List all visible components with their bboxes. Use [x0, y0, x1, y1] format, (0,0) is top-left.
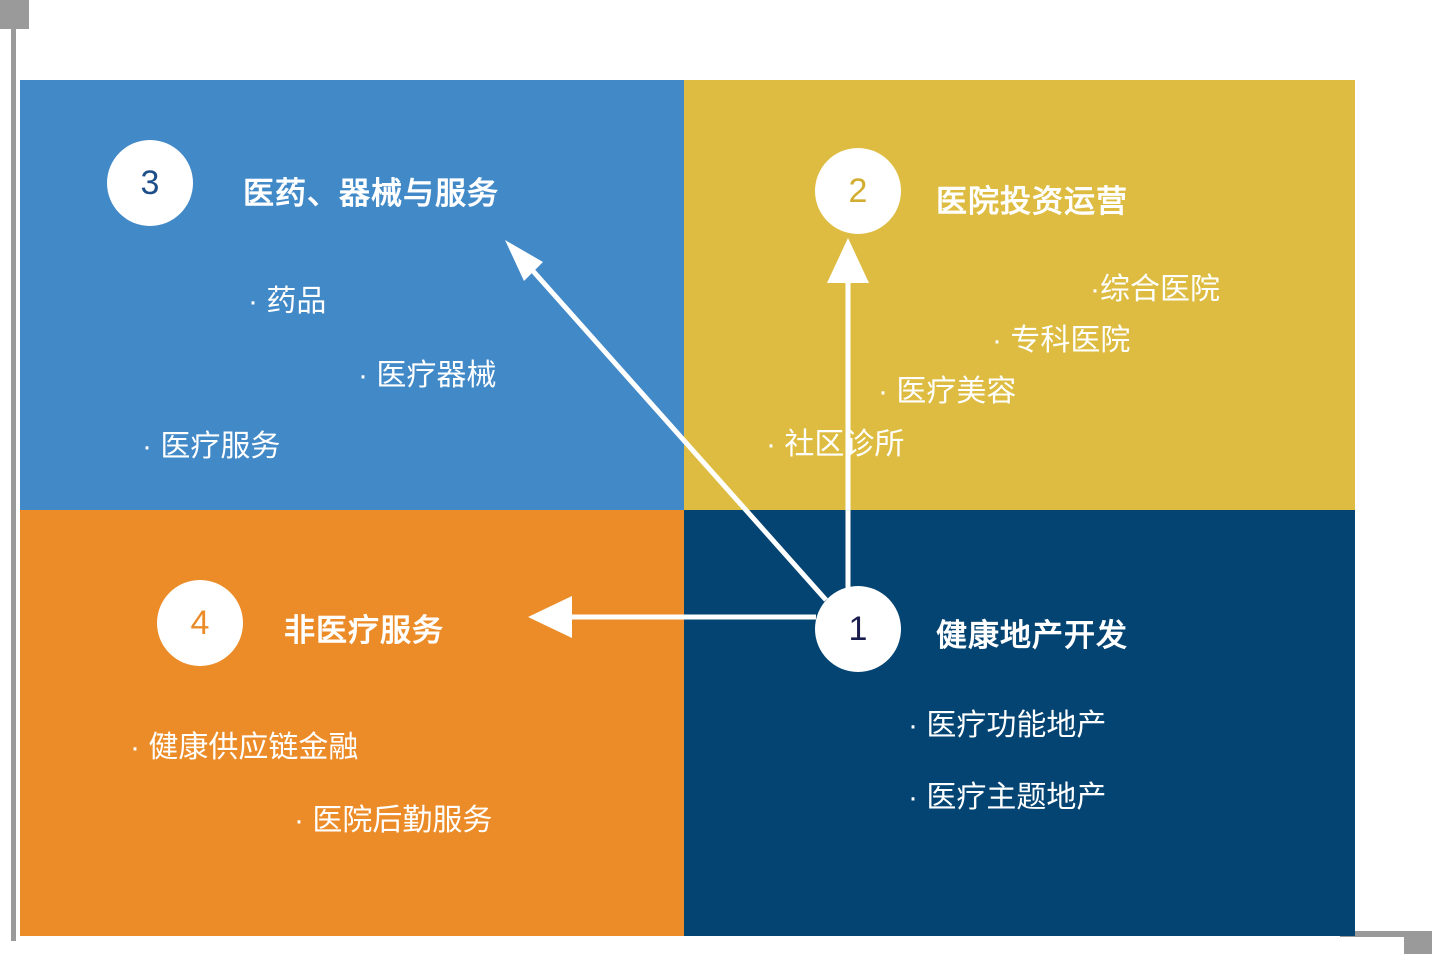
frame-corner-mark-top-left [0, 0, 29, 29]
frame-rule-left [11, 29, 16, 941]
quadrant-badge-2[interactable]: 2 [815, 148, 901, 234]
quadrant-medicine-devices-services[interactable] [20, 80, 684, 510]
list-item: · 健康供应链金融 [130, 722, 358, 766]
list-item: · 医疗服务 [142, 421, 280, 465]
list-item: · 医院后勤服务 [294, 795, 492, 839]
quadrant-badge-1[interactable]: 1 [815, 586, 901, 672]
quadrant-badge-4[interactable]: 4 [157, 580, 243, 666]
frame-corner-mark-bottom-right [1404, 931, 1432, 954]
quadrant-title-hospital-investment: 医院投资运营 [936, 176, 1128, 221]
list-item: ·综合医院 [1090, 264, 1220, 308]
diagram-canvas: 3 2 4 1 医药、器械与服务 医院投资运营 非医疗服务 健康地产开发 · 药… [0, 0, 1432, 954]
list-item: · 医疗器械 [358, 350, 496, 394]
quadrant-badge-3[interactable]: 3 [107, 140, 193, 226]
list-item: · 医疗主题地产 [908, 772, 1106, 816]
quadrant-title-non-medical-services: 非医疗服务 [284, 605, 444, 650]
list-item: · 专科医院 [992, 315, 1130, 359]
quadrant-title-medicine-devices-services: 医药、器械与服务 [243, 168, 499, 213]
list-item: · 医疗美容 [878, 366, 1016, 410]
list-item: · 药品 [248, 276, 326, 320]
list-item: · 医疗功能地产 [908, 700, 1106, 744]
quadrant-title-health-real-estate: 健康地产开发 [936, 610, 1128, 655]
list-item: · 社区诊所 [766, 419, 904, 463]
